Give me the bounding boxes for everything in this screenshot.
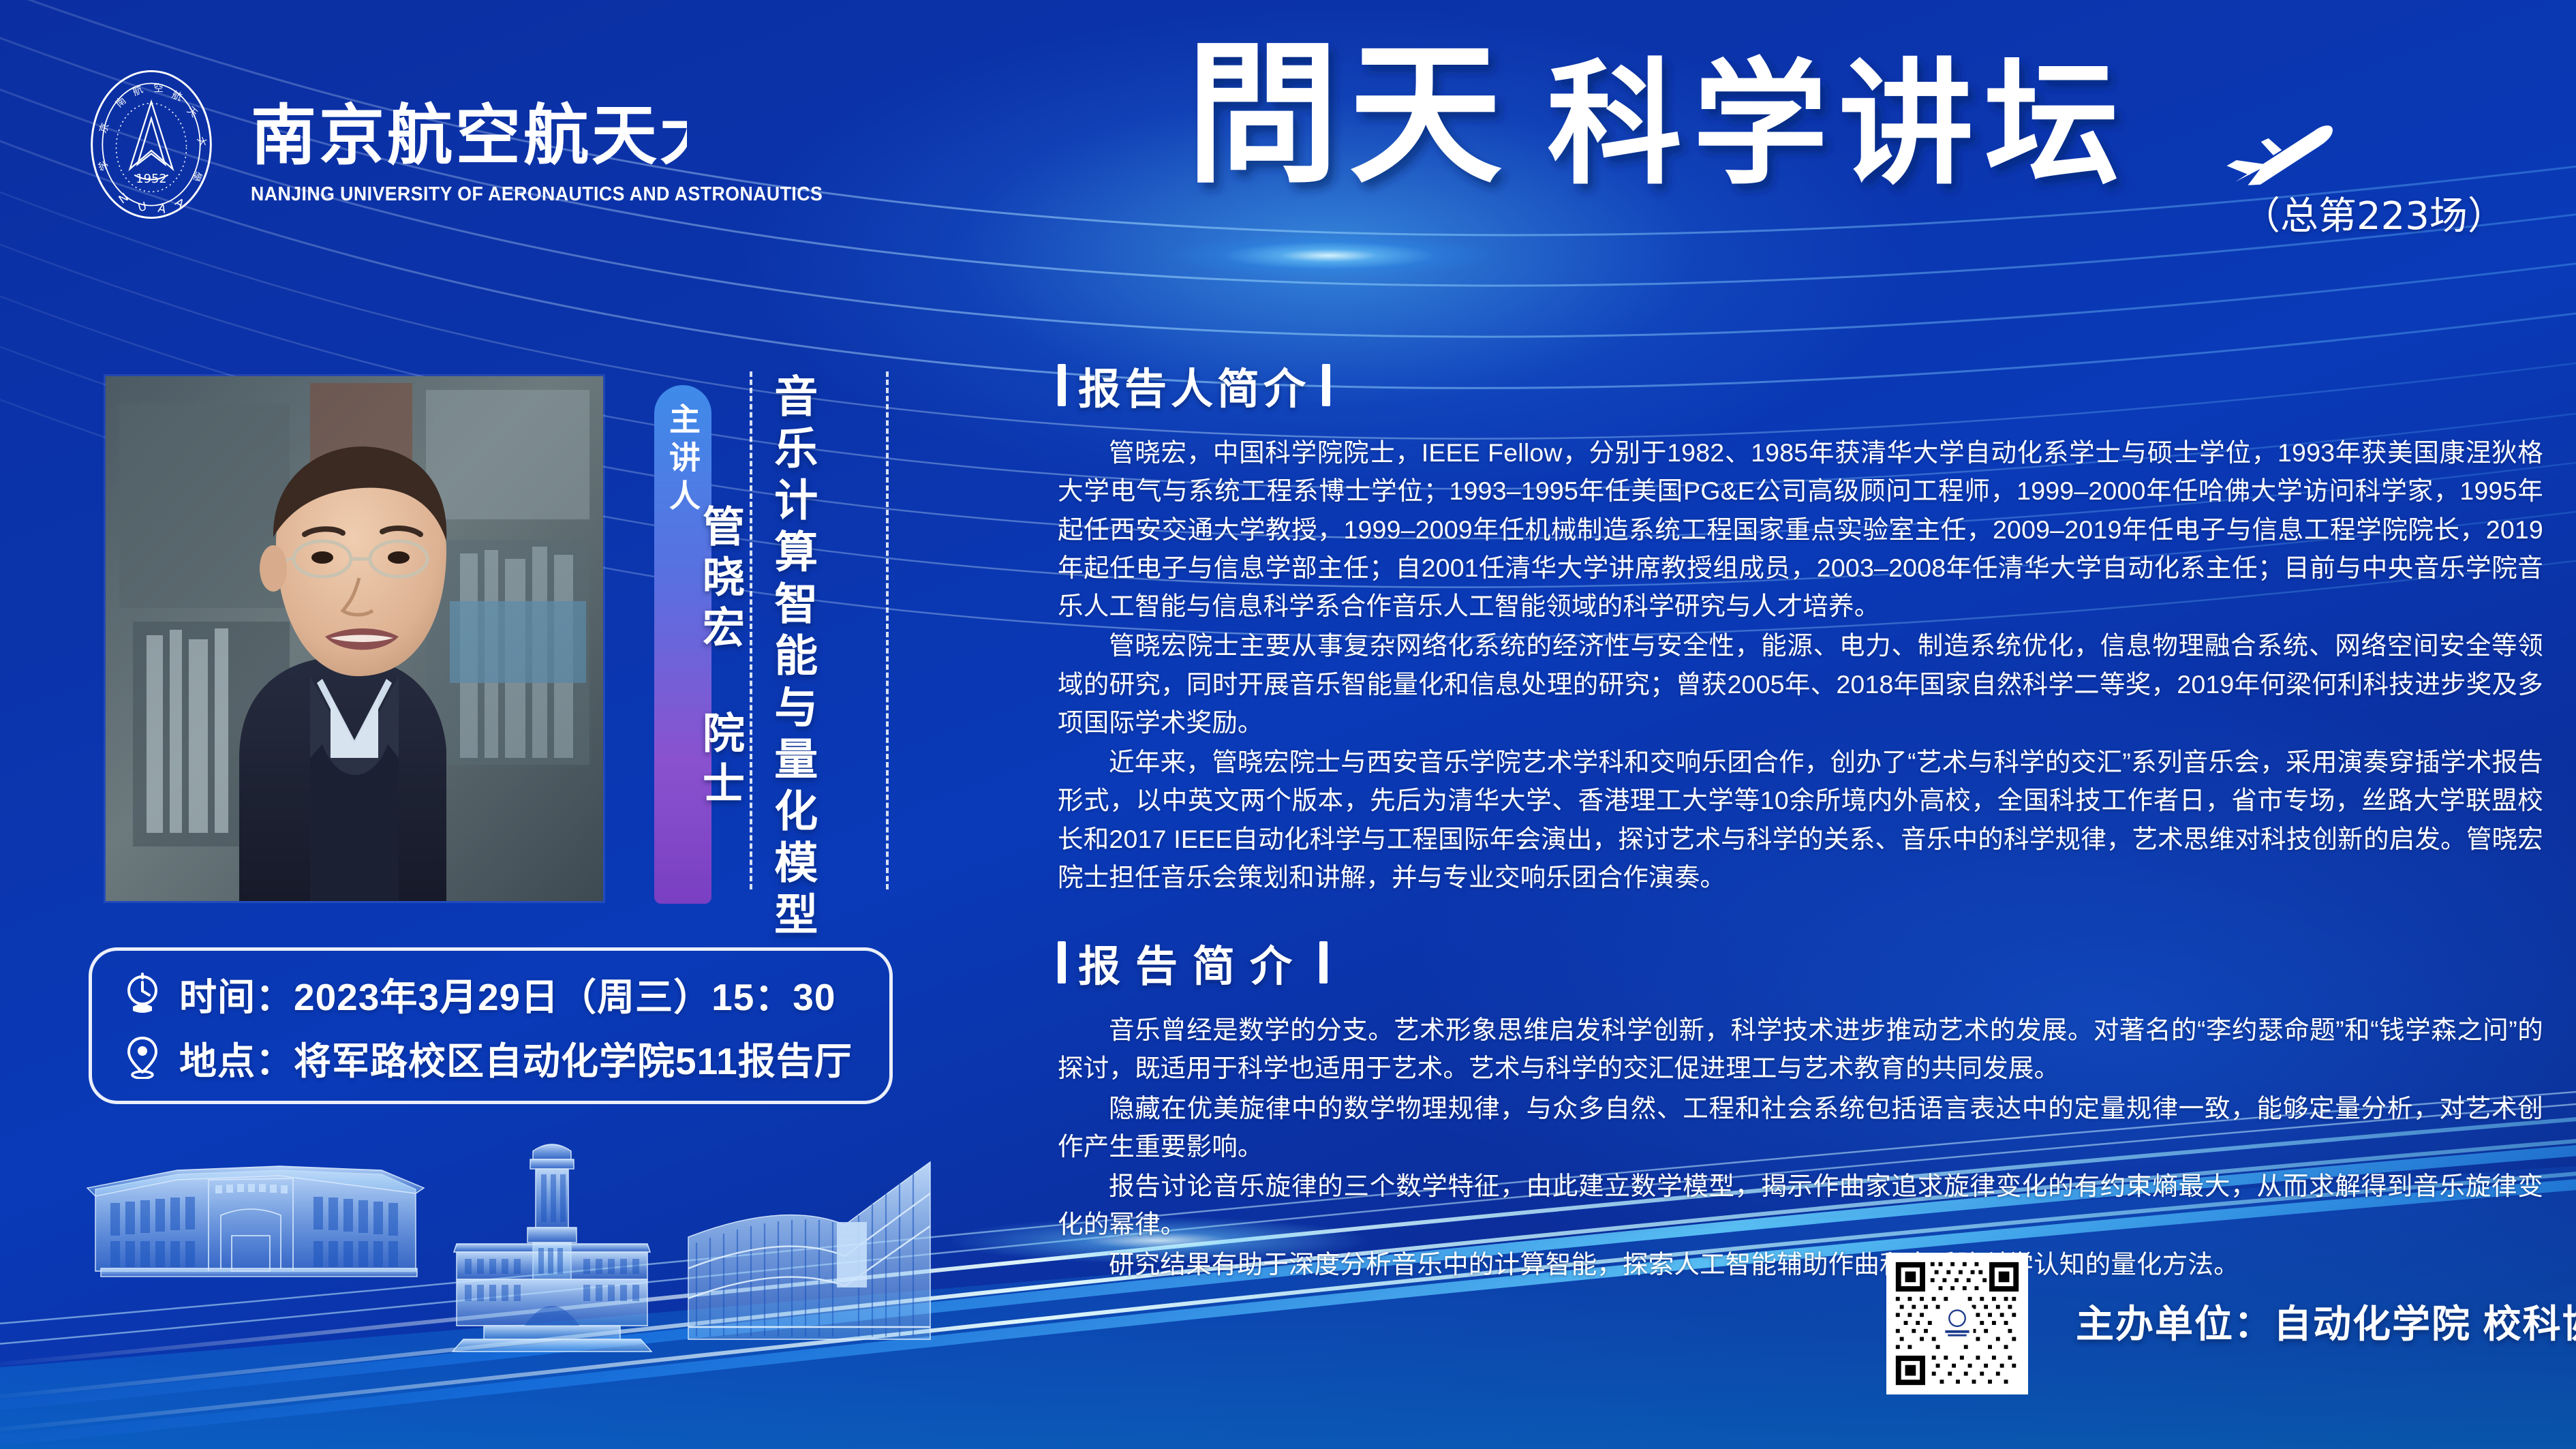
uni-cn-text: 南京航空航天大學 xyxy=(251,97,687,174)
abstract-paragraph: 研究结果有助于深度分析音乐中的计算智能，探索人工智能辅助作曲和音乐脑科学认知的量… xyxy=(1058,1245,2543,1283)
map-pin-icon xyxy=(123,1037,162,1079)
airplane-icon xyxy=(2218,124,2348,189)
topic-title: 音乐计算智能与量化模型 xyxy=(770,373,814,943)
svg-text:U: U xyxy=(136,199,148,214)
main-title: 問天 科学讲坛 xyxy=(1186,31,2249,215)
nuaa-seal-icon: 1952 N U A A 南 航 空 航 天 京 大 学 學 xyxy=(75,68,228,221)
svg-text:学: 学 xyxy=(97,159,111,172)
speaker-photo xyxy=(106,376,603,901)
event-time-row: 时间：2023年3月29日（周三）15：30 xyxy=(123,966,858,1021)
abstract-paragraph: 音乐曾经是数学的分支。艺术形象思维启发科学创新，科学技术进步推动艺术的发展。对著… xyxy=(1058,1011,2543,1088)
abstract-paragraph: 报告讨论音乐旋律的三个数学特征，由此建立数学模型，揭示作曲家追求旋律变化的有约束… xyxy=(1058,1167,2543,1244)
main-title-part1: 問天 xyxy=(1186,31,1512,204)
heading-bar-right xyxy=(1322,364,1330,406)
content-column: 报告人简介 管晓宏，中国科学院院士，IEEE Fellow，分别于1982、19… xyxy=(1058,354,2543,1285)
qr-code-image xyxy=(1890,1257,2024,1390)
university-name-en: NANJING UNIVERSITY OF AERONAUTICS AND AS… xyxy=(251,183,823,206)
speaker-portrait-image xyxy=(106,376,603,901)
heading-bar-right xyxy=(1319,941,1328,983)
series-label: （总第223场） xyxy=(2242,185,2506,241)
svg-text:空: 空 xyxy=(153,83,164,95)
bio-paragraph: 管晓宏，中国科学院院士，IEEE Fellow，分别于1982、1985年获清华… xyxy=(1058,433,2543,625)
seal-year: 1952 xyxy=(136,172,167,186)
svg-text:天: 天 xyxy=(185,104,200,120)
host-organizations: 主办单位：自动化学院 校科协 xyxy=(2076,1294,2576,1349)
poster-root: 1952 N U A A 南 航 空 航 天 京 大 学 學 南京航空航天大學 xyxy=(0,0,2576,1449)
abstract-heading-text: 报告简介 xyxy=(1078,932,1307,993)
campus-buildings-illustration xyxy=(75,1135,981,1360)
qr-code[interactable] xyxy=(1886,1253,2028,1394)
university-logo: 1952 N U A A 南 航 空 航 天 京 大 学 學 南京航空航天大學 xyxy=(75,68,872,221)
main-title-part2: 科学讲坛 xyxy=(1547,46,2130,203)
svg-text:N: N xyxy=(116,190,131,207)
header-light-flare xyxy=(1104,204,1554,307)
svg-text:航: 航 xyxy=(131,83,145,98)
heading-bar-left xyxy=(1058,364,1066,406)
university-name-cn: 南京航空航天大學 xyxy=(251,95,687,178)
bio-paragraph: 管晓宏院士主要从事复杂网络化系统的经济性与安全性，能源、电力、制造系统优化，信息… xyxy=(1058,626,2543,742)
svg-text:南: 南 xyxy=(113,95,128,110)
svg-text:京: 京 xyxy=(97,121,112,134)
event-time-text: 时间：2023年3月29日（周三）15：30 xyxy=(179,966,835,1021)
speaker-name: 管晓宏 院士 xyxy=(688,504,750,812)
svg-text:航: 航 xyxy=(170,89,184,104)
svg-text:A: A xyxy=(157,201,168,216)
heading-bar-left xyxy=(1058,941,1066,983)
bio-section-heading: 报告人简介 xyxy=(1058,354,2543,416)
clock-icon xyxy=(123,973,162,1015)
abstract-section-heading: 报告简介 xyxy=(1058,932,2543,993)
event-info-box: 时间：2023年3月29日（周三）15：30 地点：将军路校区自动化学院511报… xyxy=(89,947,893,1104)
bio-heading-text: 报告人简介 xyxy=(1078,354,1310,416)
speaker-tab-label: 主讲人 xyxy=(667,403,699,517)
event-location-text: 地点：将军路校区自动化学院511报告厅 xyxy=(179,1031,853,1085)
bio-paragraph: 近年来，管晓宏院士与西安音乐学院艺术学科和交响乐团合作，创办了“艺术与科学的交汇… xyxy=(1058,743,2543,896)
event-location-row: 地点：将军路校区自动化学院511报告厅 xyxy=(123,1031,858,1085)
abstract-paragraph: 隐藏在优美旋律中的数学物理规律，与众多自然、工程和社会系统包括语言表达中的定量规… xyxy=(1058,1089,2543,1166)
svg-text:大: 大 xyxy=(194,135,209,149)
